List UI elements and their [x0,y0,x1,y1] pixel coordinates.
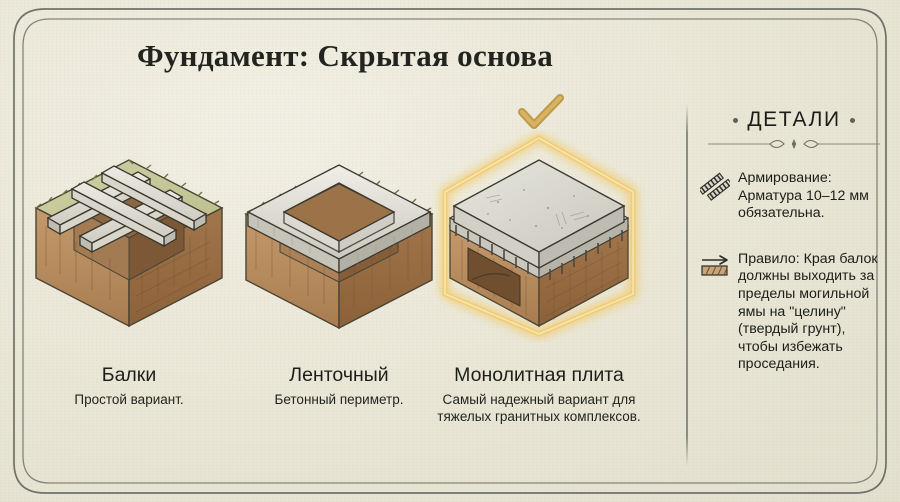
card-description: Самый надежный вариант для тяжелых грани… [414,392,664,425]
option-card-monolithic-slab[interactable]: Монолитная плита Самый надежный вариант … [428,96,650,476]
detail-text: Армирование: Арматура 10–12 мм обязатель… [738,170,888,223]
detail-text: Правило: Края балок должны выходить за п… [738,251,888,374]
detail-item-reinforcement: Армирование: Арматура 10–12 мм обязатель… [700,170,888,223]
details-sidebar: ДЕТАЛИ [700,108,888,374]
illustration-beams [18,130,240,342]
details-title: ДЕТАЛИ [747,108,840,132]
option-card-beams[interactable]: Балки Простой вариант. [18,96,240,476]
bullet-dot-right-icon [850,118,855,123]
foundation-options: Балки Простой вариант. [18,96,680,476]
illustration-monolithic-slab [428,130,650,342]
card-title: Балки [10,364,248,387]
ornament-divider-icon [704,138,884,154]
card-title: Монолитная плита [420,364,658,387]
details-header: ДЕТАЛИ [700,108,888,132]
bullet-dot-left-icon [733,118,738,123]
checkmark-icon [512,94,570,132]
infographic-canvas: Фундамент: Скрытая основа [0,0,900,502]
section-divider [686,104,688,466]
arrow-soil-icon [700,253,730,283]
illustration-strip [228,130,450,342]
rebar-icon [700,172,730,202]
page-title: Фундамент: Скрытая основа [0,38,690,74]
detail-item-rule: Правило: Края балок должны выходить за п… [700,251,888,374]
